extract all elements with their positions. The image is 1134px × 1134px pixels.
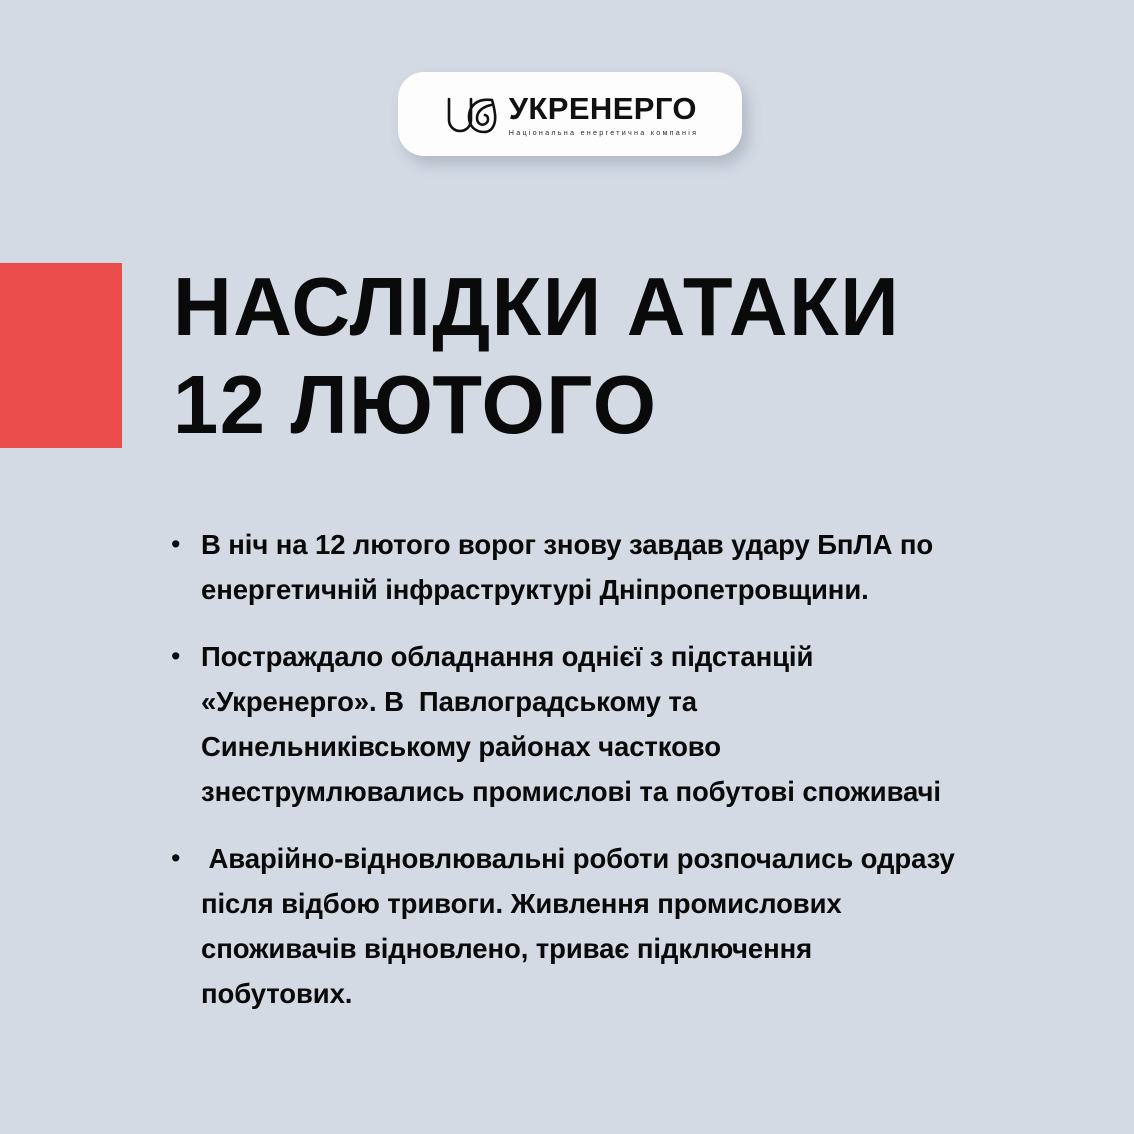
ukrenergo-logo-card: УКРЕНЕРГО Національна енергетична компан… — [398, 72, 742, 156]
list-item-text: Постраждало обладнання однієї з підстанц… — [201, 634, 968, 814]
list-item-text: Аварійно-відновлювальні роботи розпочали… — [201, 836, 961, 1016]
red-accent-block — [0, 263, 122, 448]
page-title: НАСЛІДКИ АТАКИ 12 ЛЮТОГО — [173, 258, 1073, 454]
logo-wordmark: УКРЕНЕРГО — [509, 93, 697, 124]
list-item: • Аварійно-відновлювальні роботи розпоча… — [168, 836, 968, 1016]
bullet-marker-icon: • — [168, 634, 201, 679]
logo-inner: УКРЕНЕРГО Національна енергетична компан… — [442, 92, 698, 138]
bullet-list: • В ніч на 12 лютого ворог знову завдав … — [168, 522, 968, 1038]
logo-text-block: УКРЕНЕРГО Національна енергетична компан… — [509, 93, 698, 136]
bullet-marker-icon: • — [168, 836, 201, 881]
list-item: • В ніч на 12 лютого ворог знову завдав … — [168, 522, 968, 612]
page-title-line-1: НАСЛІДКИ АТАКИ — [173, 258, 1055, 356]
list-item-text: В ніч на 12 лютого ворог знову завдав уд… — [201, 522, 968, 612]
page-title-line-2: 12 ЛЮТОГО — [173, 356, 1055, 454]
logo-tagline: Національна енергетична компанія — [509, 129, 698, 136]
list-item: • Постраждало обладнання однієї з підста… — [168, 634, 968, 814]
bullet-marker-icon: • — [168, 522, 201, 567]
ukrenergo-leaf-mark-icon — [442, 92, 498, 138]
